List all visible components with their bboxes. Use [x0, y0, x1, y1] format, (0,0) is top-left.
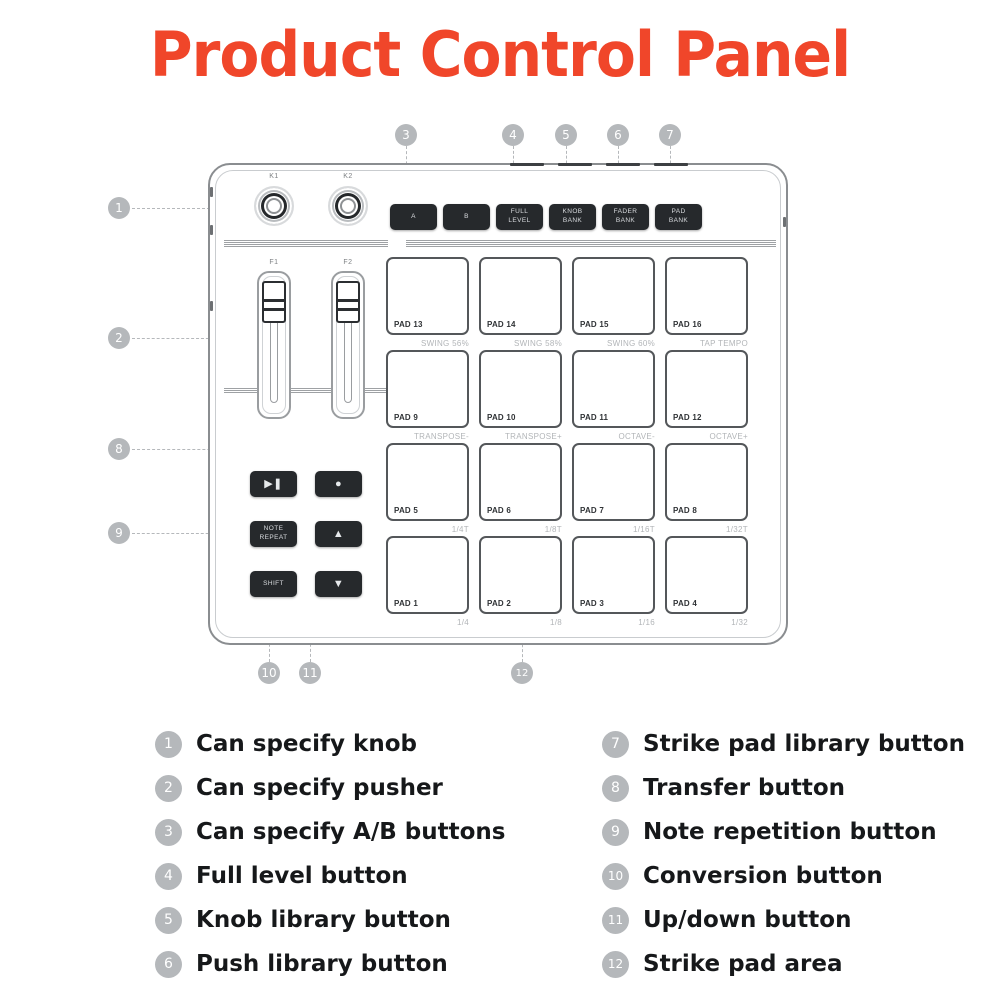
button-full-level-line1: FULL — [511, 208, 529, 217]
button-knob-bank-line2: BANK — [563, 217, 582, 226]
pad-1-label: PAD 1 — [394, 599, 418, 608]
side-notch-left-2 — [210, 225, 213, 235]
pad-4-label: PAD 4 — [673, 599, 697, 608]
callout-12-marker: 12 — [511, 662, 533, 684]
button-pad-bank-line1: PAD — [671, 208, 685, 217]
fader-f1-handle[interactable] — [262, 281, 286, 323]
legend-item-4: 4 Full level button — [155, 854, 506, 898]
legend-text-12: Strike pad area — [643, 951, 843, 977]
pad-2[interactable]: PAD 2 — [479, 536, 562, 614]
button-note-repeat[interactable]: NOTE REPEAT — [250, 521, 297, 547]
legend-badge-10: 10 — [602, 863, 629, 890]
callout-4-marker: 4 — [502, 124, 524, 146]
legend-item-12: 12 Strike pad area — [602, 942, 965, 986]
fader-f1-label: F1 — [257, 259, 291, 266]
pad-2-label: PAD 2 — [487, 599, 511, 608]
legend-item-9: 9 Note repetition button — [602, 810, 965, 854]
pad-8-label: PAD 8 — [673, 506, 697, 515]
callout-8-marker: 8 — [108, 438, 130, 460]
button-a-label: A — [411, 213, 416, 222]
callout-10-marker: 10 — [258, 662, 280, 684]
pad-16-sublabel: TAP TEMPO — [665, 339, 748, 348]
legend-badge-11: 11 — [602, 907, 629, 934]
knob-k2-label: K2 — [328, 173, 368, 180]
pad-1[interactable]: PAD 1 — [386, 536, 469, 614]
pad-3-sublabel: 1/16 — [572, 618, 655, 627]
legend-text-5: Knob library button — [196, 907, 451, 933]
pad-10-sublabel: TRANSPOSE+ — [479, 432, 562, 441]
button-shift[interactable]: SHIFT — [250, 571, 297, 597]
knob-k1-dial[interactable] — [254, 186, 294, 226]
button-pad-bank-line2: BANK — [669, 217, 688, 226]
legend-text-4: Full level button — [196, 863, 408, 889]
play-pause-icon: ▶❚ — [264, 477, 282, 492]
pad-5[interactable]: PAD 5 — [386, 443, 469, 521]
legend-text-6: Push library button — [196, 951, 448, 977]
button-fader-bank-line1: FADER — [614, 208, 638, 217]
callout-2-marker: 2 — [108, 327, 130, 349]
legend-item-7: 7 Strike pad library button — [602, 722, 965, 766]
pad-11[interactable]: PAD 11 — [572, 350, 655, 428]
vent-2 — [558, 163, 592, 166]
legend-text-3: Can specify A/B buttons — [196, 819, 506, 845]
button-up[interactable]: ▲ — [315, 521, 362, 547]
pad-7[interactable]: PAD 7 — [572, 443, 655, 521]
pad-9-sublabel: TRANSPOSE- — [386, 432, 469, 441]
legend-badge-2: 2 — [155, 775, 182, 802]
pad-14-label: PAD 14 — [487, 320, 516, 329]
button-fader-bank-line2: BANK — [616, 217, 635, 226]
legend-badge-1: 1 — [155, 731, 182, 758]
callout-1-marker: 1 — [108, 197, 130, 219]
legend-column-right: 7 Strike pad library button 8 Transfer b… — [602, 722, 965, 986]
pad-1-sublabel: 1/4 — [386, 618, 469, 627]
callout-3-marker: 3 — [395, 124, 417, 146]
pad-10-label: PAD 10 — [487, 413, 516, 422]
pad-15-sublabel: SWING 60% — [572, 339, 655, 348]
fader-f2-track[interactable] — [331, 271, 365, 419]
pad-13-label: PAD 13 — [394, 320, 423, 329]
pad-8[interactable]: PAD 8 — [665, 443, 748, 521]
knob-k1-label: K1 — [254, 173, 294, 180]
pad-14-sublabel: SWING 58% — [479, 339, 562, 348]
fader-f1-track[interactable] — [257, 271, 291, 419]
pad-6-sublabel: 1/8T — [479, 525, 562, 534]
legend-item-6: 6 Push library button — [155, 942, 506, 986]
button-play-pause[interactable]: ▶❚ — [250, 471, 297, 497]
pad-9-label: PAD 9 — [394, 413, 418, 422]
pad-5-sublabel: 1/4T — [386, 525, 469, 534]
pad-10[interactable]: PAD 10 — [479, 350, 562, 428]
legend-badge-5: 5 — [155, 907, 182, 934]
pad-8-sublabel: 1/32T — [665, 525, 748, 534]
fader-f2-handle[interactable] — [336, 281, 360, 323]
button-down[interactable]: ▼ — [315, 571, 362, 597]
pad-14[interactable]: PAD 14 — [479, 257, 562, 335]
pad-3-label: PAD 3 — [580, 599, 604, 608]
rib-band-left — [224, 239, 388, 248]
pad-15-label: PAD 15 — [580, 320, 609, 329]
legend-item-8: 8 Transfer button — [602, 766, 965, 810]
legend-badge-8: 8 — [602, 775, 629, 802]
callout-11-marker: 11 — [299, 662, 321, 684]
button-a[interactable]: A — [390, 204, 437, 230]
button-pad-bank[interactable]: PAD BANK — [655, 204, 702, 230]
pad-16-label: PAD 16 — [673, 320, 702, 329]
button-b[interactable]: B — [443, 204, 490, 230]
pad-15[interactable]: PAD 15 — [572, 257, 655, 335]
pad-12[interactable]: PAD 12 — [665, 350, 748, 428]
button-full-level[interactable]: FULL LEVEL — [496, 204, 543, 230]
callout-9-marker: 9 — [108, 522, 130, 544]
legend-item-5: 5 Knob library button — [155, 898, 506, 942]
legend-item-2: 2 Can specify pusher — [155, 766, 506, 810]
callout-7-marker: 7 — [659, 124, 681, 146]
legend-item-11: 11 Up/down button — [602, 898, 965, 942]
button-note-repeat-line1: NOTE — [264, 525, 284, 534]
pad-6[interactable]: PAD 6 — [479, 443, 562, 521]
vent-4 — [654, 163, 688, 166]
pad-16[interactable]: PAD 16 — [665, 257, 748, 335]
pad-3[interactable]: PAD 3 — [572, 536, 655, 614]
button-shift-label: SHIFT — [263, 580, 284, 589]
pad-12-sublabel: OCTAVE+ — [665, 432, 748, 441]
pad-7-label: PAD 7 — [580, 506, 604, 515]
legend-text-9: Note repetition button — [643, 819, 937, 845]
button-fader-bank[interactable]: FADER BANK — [602, 204, 649, 230]
legend-badge-3: 3 — [155, 819, 182, 846]
page-title: Product Control Panel — [30, 18, 970, 91]
rib-band-right — [406, 239, 776, 248]
legend-badge-9: 9 — [602, 819, 629, 846]
legend-text-8: Transfer button — [643, 775, 845, 801]
pad-2-sublabel: 1/8 — [479, 618, 562, 627]
legend-text-2: Can specify pusher — [196, 775, 443, 801]
button-note-repeat-line2: REPEAT — [260, 534, 288, 543]
legend-badge-12: 12 — [602, 951, 629, 978]
button-knob-bank[interactable]: KNOB BANK — [549, 204, 596, 230]
pad-4-sublabel: 1/32 — [665, 618, 748, 627]
legend-badge-6: 6 — [155, 951, 182, 978]
callout-6-marker: 6 — [607, 124, 629, 146]
fader-f2-label: F2 — [331, 259, 365, 266]
pad-12-label: PAD 12 — [673, 413, 702, 422]
legend-item-3: 3 Can specify A/B buttons — [155, 810, 506, 854]
controller-device: K1 K2 F1 F2 A B — [208, 163, 788, 645]
pad-6-label: PAD 6 — [487, 506, 511, 515]
knob-k2-dial[interactable] — [328, 186, 368, 226]
arrow-down-icon: ▼ — [333, 577, 344, 592]
legend-item-10: 10 Conversion button — [602, 854, 965, 898]
button-knob-bank-line1: KNOB — [562, 208, 582, 217]
legend-badge-7: 7 — [602, 731, 629, 758]
pad-9[interactable]: PAD 9 — [386, 350, 469, 428]
pad-4[interactable]: PAD 4 — [665, 536, 748, 614]
record-icon: ● — [335, 477, 342, 492]
legend-text-10: Conversion button — [643, 863, 883, 889]
pad-13[interactable]: PAD 13 — [386, 257, 469, 335]
legend-text-7: Strike pad library button — [643, 731, 965, 757]
side-notch-right-1 — [783, 217, 786, 227]
pad-5-label: PAD 5 — [394, 506, 418, 515]
legend-text-1: Can specify knob — [196, 731, 417, 757]
button-b-label: B — [464, 213, 469, 222]
vent-1 — [510, 163, 544, 166]
legend-text-11: Up/down button — [643, 907, 851, 933]
pad-7-sublabel: 1/16T — [572, 525, 655, 534]
button-record[interactable]: ● — [315, 471, 362, 497]
vent-3 — [606, 163, 640, 166]
side-notch-left-1 — [210, 187, 213, 197]
legend-item-1: 1 Can specify knob — [155, 722, 506, 766]
pad-13-sublabel: SWING 56% — [386, 339, 469, 348]
button-full-level-line2: LEVEL — [508, 217, 530, 226]
callout-5-marker: 5 — [555, 124, 577, 146]
side-notch-left-3 — [210, 301, 213, 311]
legend-badge-4: 4 — [155, 863, 182, 890]
legend: 1 Can specify knob 2 Can specify pusher … — [0, 722, 1000, 1000]
legend-column-left: 1 Can specify knob 2 Can specify pusher … — [155, 722, 506, 986]
arrow-up-icon: ▲ — [333, 527, 344, 542]
pad-11-sublabel: OCTAVE- — [572, 432, 655, 441]
pad-11-label: PAD 11 — [580, 413, 608, 422]
